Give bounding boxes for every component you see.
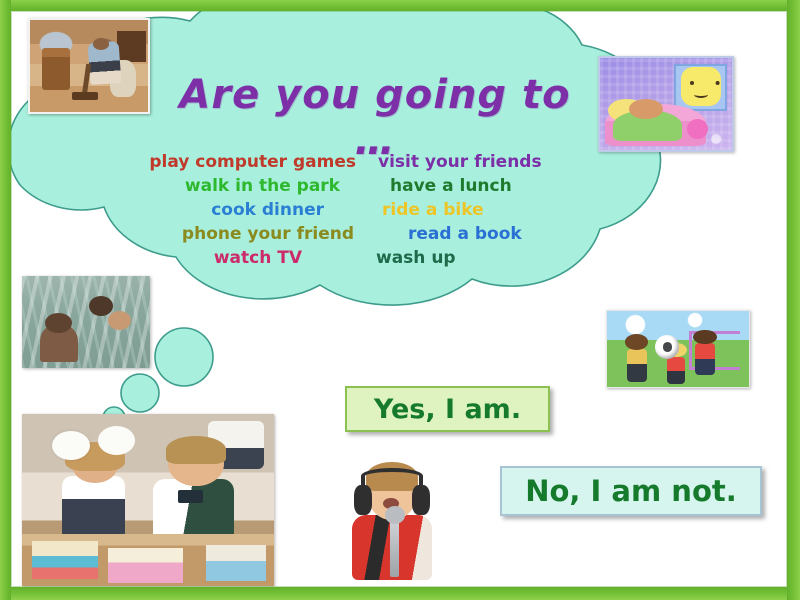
photo-child-sweeping <box>28 18 150 114</box>
activity-item-wash-up[interactable]: wash up <box>374 246 635 270</box>
photo-classroom-children <box>22 414 274 586</box>
smiling-moon-icon <box>681 67 722 106</box>
photo-cartoon-soccer <box>606 310 750 388</box>
answer-yes-box[interactable]: Yes, I am. <box>345 386 550 432</box>
frame-border-bottom <box>0 587 800 600</box>
photo-cartoon-sleeping-child <box>598 56 734 152</box>
activity-item-have-a-lunch[interactable]: have a lunch <box>374 174 635 198</box>
headphone-earcup-left <box>354 485 372 515</box>
photo-cartoon-soccer-image <box>607 311 749 387</box>
soccer-kid-two <box>667 357 685 384</box>
frame-border-top <box>0 0 800 11</box>
activity-column-right: visit your friends have a lunch ride a b… <box>374 150 635 270</box>
activity-item-phone-your-friend[interactable]: phone your friend <box>95 222 356 246</box>
thought-tail-circle-medium <box>121 374 159 412</box>
photo-child-sweeping-image <box>30 20 148 112</box>
slide-canvas: Are you going to … play computer games w… <box>0 0 800 600</box>
frame-border-left <box>0 0 11 600</box>
photo-children-swimming-image <box>22 276 150 368</box>
flower-icon <box>687 119 708 139</box>
photo-toddler-singing-image <box>336 452 448 588</box>
activity-item-cook-dinner[interactable]: cook dinner <box>95 198 356 222</box>
swimmer-head-three <box>108 311 131 330</box>
activity-item-visit-your-friends[interactable]: visit your friends <box>374 150 635 174</box>
photo-classroom-children-image <box>22 414 274 586</box>
frame-border-right <box>787 0 800 600</box>
soccer-kid-three <box>695 343 715 375</box>
cabinet-shape <box>117 31 145 62</box>
activity-item-watch-tv[interactable]: watch TV <box>95 246 356 270</box>
swimmer-head-two <box>89 296 113 316</box>
headphones-band-icon <box>361 468 424 484</box>
answer-no-box[interactable]: No, I am not. <box>500 466 762 516</box>
swimmer-head-one <box>45 313 72 333</box>
book-two <box>108 548 184 582</box>
activity-item-walk-in-the-park[interactable]: walk in the park <box>95 174 356 198</box>
activity-item-play-computer-games[interactable]: play computer games <box>95 150 356 174</box>
activity-item-ride-a-bike[interactable]: ride a bike <box>374 198 635 222</box>
hair-bow-right <box>98 426 136 455</box>
activity-column-left: play computer games walk in the park coo… <box>95 150 356 270</box>
sleeping-child-shape <box>629 99 663 119</box>
activity-lists: play computer games walk in the park coo… <box>95 150 635 270</box>
headphone-earcup-right <box>412 485 430 515</box>
microphone-handle-icon <box>390 520 399 577</box>
bow-tie-shape <box>178 490 203 504</box>
thought-tail-circle-large <box>155 328 213 386</box>
book-one <box>32 541 98 579</box>
boy-hair-shape <box>166 436 226 464</box>
broom-head-shape <box>72 92 98 100</box>
soccer-kid-one <box>627 349 647 382</box>
photo-children-swimming <box>22 276 150 368</box>
photo-cartoon-sleeping-child-image <box>600 58 732 150</box>
photo-toddler-singing <box>336 452 448 588</box>
activity-item-read-a-book[interactable]: read a book <box>374 222 635 246</box>
book-three <box>206 545 266 581</box>
chair-shape <box>42 48 70 90</box>
